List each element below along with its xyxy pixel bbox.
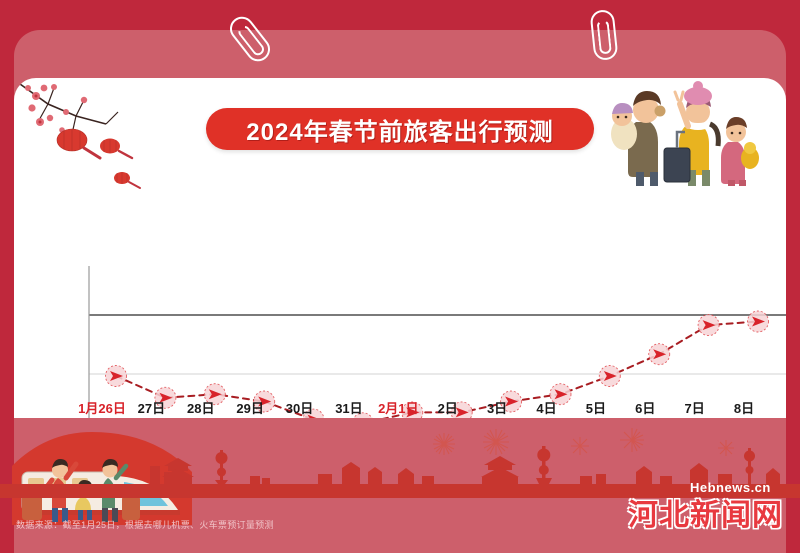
site-logo[interactable]: Hebnews.cn 河北新闻网 [628, 478, 786, 530]
x-axis-label: 27日 [138, 398, 165, 417]
data-point-marker [748, 311, 769, 332]
x-axis-labels: 1月26日27日28日29日30日31日2月1日2日3日4日5日6日7日8日 [14, 398, 786, 422]
x-axis-label: 5日 [586, 398, 606, 417]
site-logo-cn: 河北新闻网 [628, 490, 783, 534]
data-point-marker [649, 344, 670, 365]
x-axis-label: 1月26日 [78, 398, 126, 417]
x-axis-label: 8日 [734, 398, 754, 417]
data-point-marker [599, 366, 620, 387]
poster-title-text: 2024年春节前旅客出行预测 [246, 112, 553, 147]
x-axis-label: 7日 [684, 398, 704, 417]
data-point-marker [698, 315, 719, 336]
data-source-note: 数据来源：截至1月25日，根据去哪儿机票、火车票预订量预测 [16, 518, 274, 531]
paperclip-icon [589, 9, 618, 61]
x-axis-label: 6日 [635, 398, 655, 417]
data-point-marker [106, 366, 127, 387]
x-axis-label: 3日 [487, 398, 507, 417]
x-axis-label: 30日 [286, 398, 313, 417]
x-axis-label: 4日 [536, 398, 556, 417]
trend-chart [28, 156, 786, 418]
x-axis-label: 29日 [236, 398, 263, 417]
poster: 1月26日27日28日29日30日31日2月1日2日3日4日5日6日7日8日 [0, 0, 800, 553]
x-axis-label: 2日 [438, 398, 458, 417]
x-axis-label: 2月1日 [378, 398, 418, 417]
x-axis-label: 28日 [187, 398, 214, 417]
poster-title: 2024年春节前旅客出行预测 [206, 108, 594, 150]
x-axis-label: 31日 [335, 398, 362, 417]
